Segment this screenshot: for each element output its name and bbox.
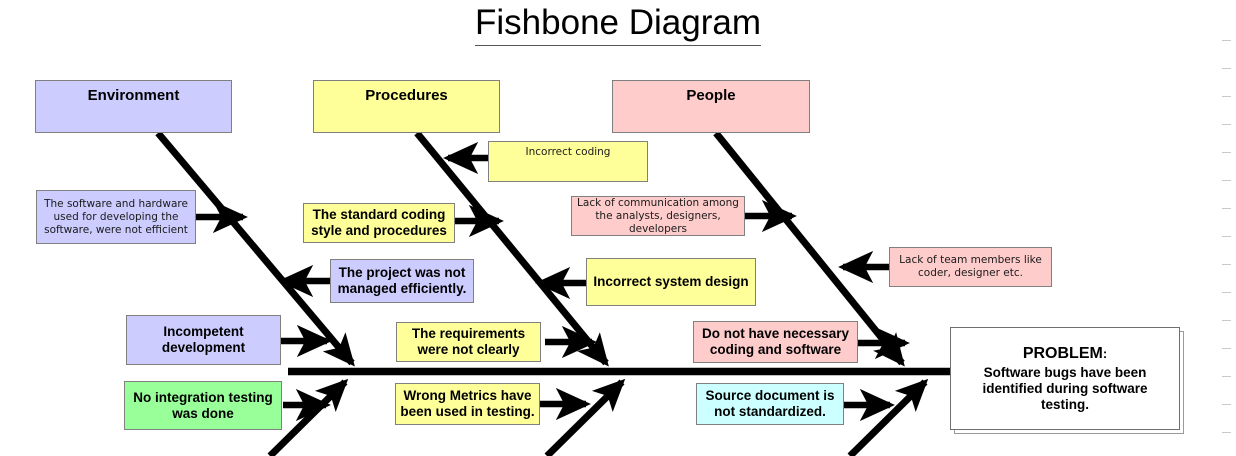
cause-box-proc-incorrect-coding[interactable]: Incorrect coding [488, 141, 648, 182]
cause-box-proc-incorrect-system[interactable]: Incorrect system design [586, 258, 756, 306]
problem-heading-text: PROBLEM [1023, 345, 1103, 362]
cause-text-people-lack-comm: Lack of communication among the analysts… [572, 197, 744, 236]
bone-lower-3 [850, 382, 925, 456]
cause-text-env-incompetent: Incompetent development [127, 324, 280, 356]
cause-box-people-source-doc[interactable]: Source document is not standardized. [696, 383, 844, 425]
cause-text-env-project-managed: The project was not managed efficiently. [331, 265, 473, 297]
cause-text-proc-standard-coding: The standard coding style and procedures [304, 207, 454, 239]
category-label-people: People [686, 87, 735, 104]
cause-box-people-lack-comm[interactable]: Lack of communication among the analysts… [571, 196, 745, 236]
cause-box-proc-standard-coding[interactable]: The standard coding style and procedures [303, 203, 455, 243]
cause-text-proc-incorrect-system: Incorrect system design [593, 274, 748, 290]
cause-box-proc-wrong-metrics[interactable]: Wrong Metrics have been used in testing. [395, 383, 540, 425]
category-box-procedures[interactable]: Procedures [313, 80, 500, 133]
cause-box-env-no-integration[interactable]: No integration testing was done [124, 381, 282, 430]
bone-lower-2 [547, 382, 622, 456]
category-label-procedures: Procedures [365, 87, 448, 104]
cause-box-env-software-hardware[interactable]: The software and hardware used for devel… [36, 190, 196, 244]
page-ruler-ticks [1222, 40, 1234, 440]
cause-text-proc-wrong-metrics: Wrong Metrics have been used in testing. [396, 388, 539, 420]
problem-statement: Software bugs have been identified durin… [959, 365, 1171, 413]
problem-heading: PROBLEM: [1023, 344, 1107, 364]
cause-text-proc-incorrect-coding: Incorrect coding [526, 146, 611, 159]
cause-text-proc-requirements: The requirements were not clearly [397, 326, 540, 358]
category-box-people[interactable]: People [612, 80, 810, 133]
cause-text-env-no-integration: No integration testing was done [125, 390, 281, 422]
category-box-environment[interactable]: Environment [35, 80, 232, 133]
fishbone-diagram-canvas: Fishbone Diagram [0, 0, 1236, 456]
cause-box-people-no-coding-sw[interactable]: Do not have necessary coding and softwar… [693, 321, 858, 363]
problem-heading-colon: : [1103, 346, 1107, 361]
category-label-environment: Environment [88, 87, 180, 104]
problem-box[interactable]: PROBLEM: Software bugs have been identif… [950, 327, 1180, 430]
cause-box-env-project-managed[interactable]: The project was not managed efficiently. [330, 259, 474, 303]
cause-text-people-no-coding-sw: Do not have necessary coding and softwar… [694, 326, 857, 358]
cause-box-proc-requirements[interactable]: The requirements were not clearly [396, 322, 541, 362]
cause-text-env-software-hardware: The software and hardware used for devel… [37, 198, 195, 237]
cause-text-people-source-doc: Source document is not standardized. [697, 388, 843, 420]
cause-box-people-lack-team[interactable]: Lack of team members like coder, designe… [889, 247, 1052, 287]
cause-text-people-lack-team: Lack of team members like coder, designe… [890, 254, 1051, 280]
cause-box-env-incompetent[interactable]: Incompetent development [126, 315, 281, 365]
